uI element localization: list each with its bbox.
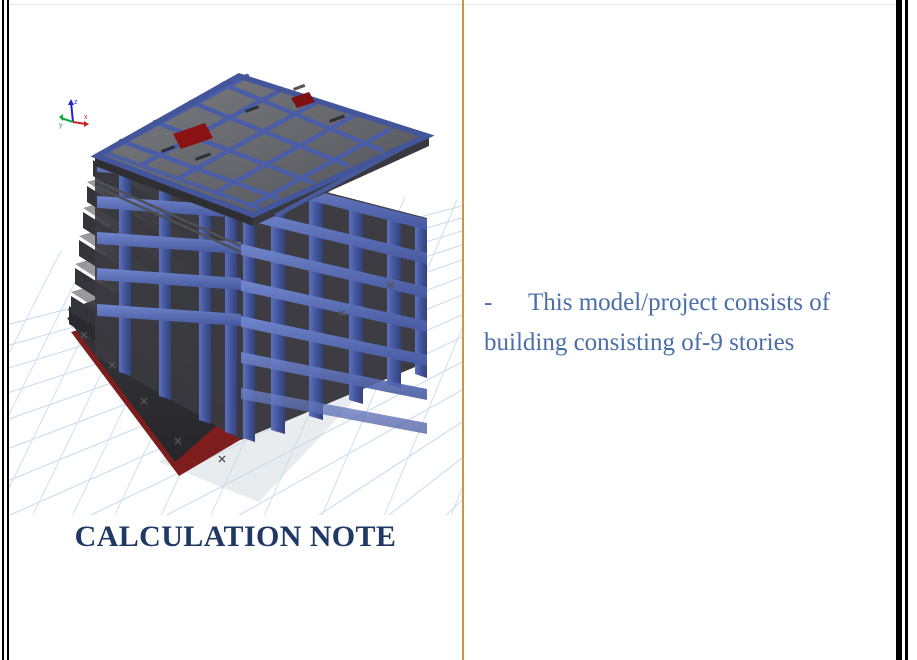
right-column: -This model/project consists of building… [470, 5, 890, 660]
left-column: z y x CALCULATION NOTE [9, 5, 462, 660]
page-border-right-inner [896, 0, 902, 660]
building-model-figure: z y x [9, 10, 462, 515]
model-description-text: This model/project consists of building … [484, 289, 830, 356]
page-border-left-outer [2, 0, 4, 660]
page-title: CALCULATION NOTE [9, 520, 462, 554]
model-description-paragraph: -This model/project consists of building… [484, 283, 884, 362]
page-border-right-outer [905, 0, 908, 660]
svg-text:y: y [59, 122, 63, 129]
coordinate-axis-gizmo: z y x [57, 96, 91, 130]
svg-text:x: x [84, 114, 88, 121]
column-divider [462, 0, 464, 660]
svg-text:z: z [74, 99, 78, 106]
bullet-dash: - [484, 283, 528, 323]
building-model-render [9, 10, 462, 515]
slide-page: z y x CALCULATION NOTE -This model/proje… [0, 0, 917, 660]
